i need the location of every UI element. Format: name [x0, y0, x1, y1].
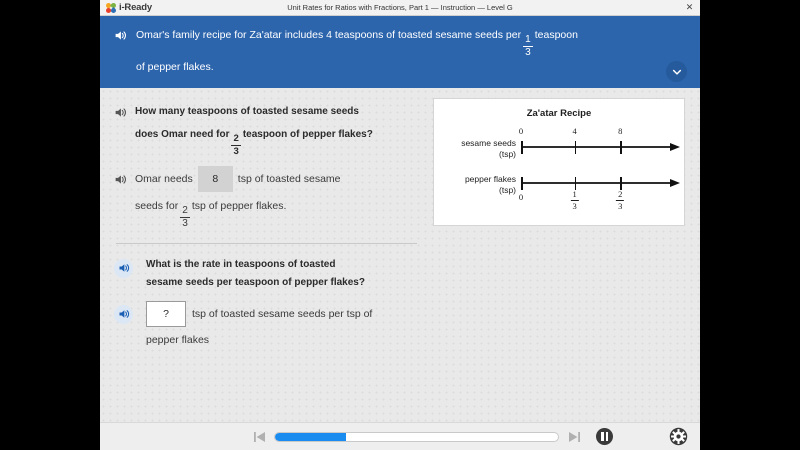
- close-icon[interactable]: ✕: [684, 2, 695, 13]
- answer-1-line2-b: tsp of pepper flakes.: [192, 200, 287, 212]
- answer-1-text: Omar needs8tsp of toasted sesame seeds f…: [135, 166, 341, 229]
- answer-1-line2: seeds for23tsp of pepper flakes.: [135, 194, 341, 229]
- app-name-label: i-Ready: [119, 2, 152, 13]
- player-controls: [100, 422, 700, 450]
- speaker-icon[interactable]: [114, 29, 127, 42]
- problem-statement-header: Omar's family recipe for Za'atar include…: [100, 16, 700, 88]
- speaker-icon[interactable]: [114, 305, 133, 324]
- double-number-line-diagram: Za'atar Recipe sesame seeds (tsp) pepper…: [433, 98, 685, 226]
- question-1-line2: does Omar need for23teaspoon of pepper f…: [135, 123, 373, 156]
- number-line-tick: [575, 141, 577, 154]
- question-2-prompt: What is the rate in teaspoons of toasted…: [146, 256, 365, 292]
- skip-back-icon[interactable]: [252, 430, 268, 444]
- fraction-numerator: 2: [231, 134, 240, 144]
- fraction-numerator: 2: [180, 206, 190, 216]
- question-1-line2-b: teaspoon of pepper flakes?: [243, 129, 373, 140]
- number-line-1-label-a: sesame seeds: [438, 138, 516, 149]
- answer-2-text: ?tsp of toasted sesame seeds per tsp of …: [146, 301, 372, 352]
- header-text-part2: teaspoon: [535, 29, 578, 41]
- number-line-tick-label: 0: [519, 192, 523, 202]
- answer-1: Omar needs8tsp of toasted sesame seeds f…: [114, 166, 423, 229]
- number-line-2-label: pepper flakes (tsp): [438, 174, 516, 196]
- window-titlebar: i-Ready Unit Rates for Ratios with Fract…: [100, 0, 700, 16]
- question-1-fraction: 23: [231, 134, 240, 156]
- number-line-1: 048: [520, 147, 680, 148]
- answer-2-line1: ?tsp of toasted sesame seeds per tsp of: [146, 301, 372, 327]
- answer-2-line2: pepper flakes: [146, 328, 372, 352]
- fraction-numerator: 1: [523, 35, 533, 45]
- app-logo: i-Ready: [100, 2, 152, 13]
- speaker-icon[interactable]: [114, 259, 133, 278]
- problem-statement-text: Omar's family recipe for Za'atar include…: [136, 25, 578, 78]
- number-line-tick: [521, 177, 523, 190]
- answer-2-suffix: tsp of toasted sesame seeds per tsp of: [192, 308, 372, 320]
- speaker-icon[interactable]: [114, 106, 127, 119]
- number-line-1-label-b: (tsp): [438, 149, 516, 160]
- number-line-2-label-a: pepper flakes: [438, 174, 516, 185]
- number-line-2: 01323: [520, 183, 680, 184]
- fraction-denominator: 3: [231, 147, 240, 157]
- number-line-tick-label: 13: [568, 189, 580, 210]
- header-text-part1: Omar's family recipe for Za'atar include…: [136, 29, 521, 41]
- gear-icon[interactable]: [669, 427, 688, 446]
- pause-button[interactable]: [596, 428, 613, 445]
- number-line-tick-label: 8: [618, 126, 622, 136]
- answer-1-line1: Omar needs8tsp of toasted sesame: [135, 166, 341, 192]
- header-fraction: 13: [523, 35, 533, 58]
- number-line-2-label-b: (tsp): [438, 185, 516, 196]
- number-line-1-label: sesame seeds (tsp): [438, 138, 516, 160]
- answer-2: ?tsp of toasted sesame seeds per tsp of …: [114, 301, 423, 352]
- number-line-tick-label: 0: [519, 126, 523, 136]
- answer-1-value-box[interactable]: 8: [198, 166, 233, 192]
- chevron-down-icon[interactable]: [666, 61, 687, 82]
- section-divider: [116, 243, 417, 244]
- header-text-line2: of pepper flakes.: [136, 57, 578, 78]
- number-line-tick-label: 4: [572, 126, 576, 136]
- question-1: How many teaspoons of toasted sesame see…: [114, 100, 423, 156]
- answer-1-suffix: tsp of toasted sesame: [238, 172, 341, 184]
- question-2-line2: sesame seeds per teaspoon of pepper flak…: [146, 274, 365, 292]
- fraction-denominator: 3: [523, 48, 533, 58]
- screen: i-Ready Unit Rates for Ratios with Fract…: [0, 0, 800, 450]
- questions-column: How many teaspoons of toasted sesame see…: [100, 88, 435, 352]
- question-1-prompt: How many teaspoons of toasted sesame see…: [135, 100, 373, 156]
- question-1-line2-a: does Omar need for: [135, 129, 229, 140]
- number-line-tick-label: 23: [614, 189, 626, 210]
- answer-1-fraction: 23: [180, 206, 190, 229]
- question-2-line1: What is the rate in teaspoons of toasted: [146, 256, 365, 274]
- skip-forward-icon[interactable]: [566, 430, 582, 444]
- window-title: Unit Rates for Ratios with Fractions, Pa…: [100, 3, 700, 12]
- answer-1-prefix: Omar needs: [135, 172, 193, 184]
- lesson-body: How many teaspoons of toasted sesame see…: [100, 88, 700, 450]
- progress-fill: [275, 433, 346, 441]
- question-1-line1: How many teaspoons of toasted sesame see…: [135, 100, 373, 123]
- rate-answer-input[interactable]: ?: [146, 301, 186, 327]
- diagram-title: Za'atar Recipe: [434, 108, 684, 119]
- answer-1-line2-a: seeds for: [135, 200, 178, 212]
- i-ready-flower-icon: [106, 3, 116, 13]
- i-ready-lesson-window: i-Ready Unit Rates for Ratios with Fract…: [100, 0, 700, 450]
- number-line-tick: [521, 141, 523, 154]
- progress-bar[interactable]: [274, 432, 559, 442]
- speaker-icon[interactable]: [114, 173, 127, 186]
- number-line-tick: [620, 141, 622, 154]
- question-2: What is the rate in teaspoons of toasted…: [114, 256, 423, 292]
- fraction-denominator: 3: [180, 219, 190, 229]
